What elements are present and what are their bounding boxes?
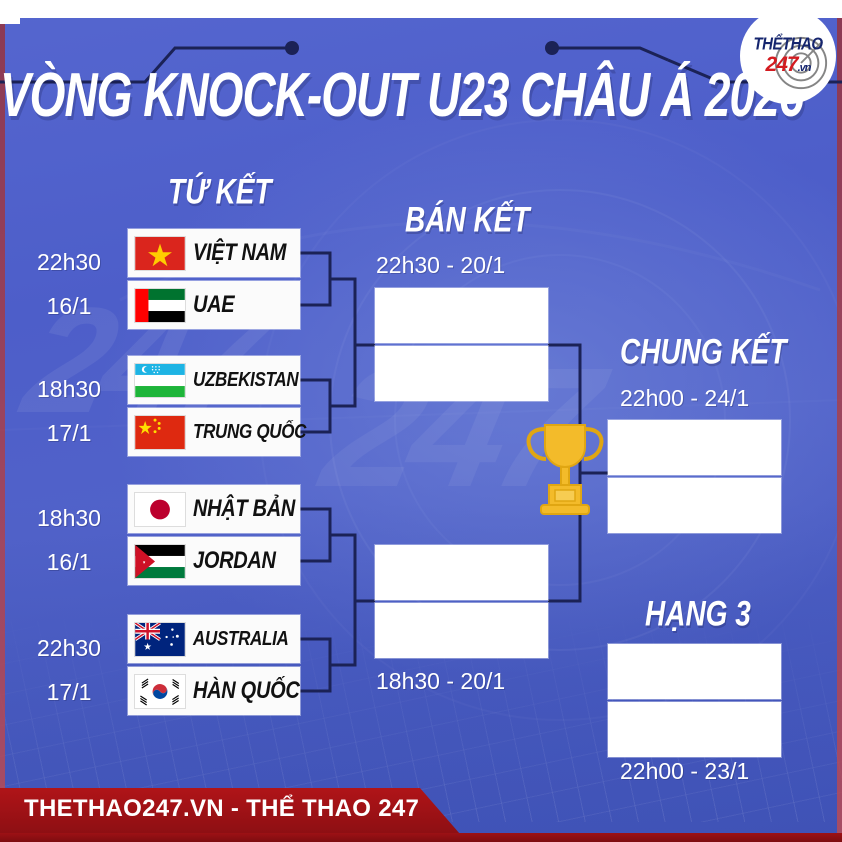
qf2-team-2-name: TRUNG QUỐC bbox=[193, 420, 306, 444]
qf3-team-2-name: JORDAN bbox=[193, 547, 276, 574]
qf3-team-2[interactable]: JORDAN bbox=[128, 537, 300, 585]
southkorea-flag bbox=[134, 674, 186, 709]
uzbekistan-flag bbox=[134, 363, 186, 398]
china-flag bbox=[134, 415, 186, 450]
qf4-team-1[interactable]: AUSTRALIA bbox=[128, 615, 300, 663]
semifinal-1-slot-2[interactable] bbox=[375, 346, 548, 401]
qf4-team-1-name: AUSTRALIA bbox=[193, 627, 289, 651]
final-time: 22h00 - 24/1 bbox=[620, 385, 749, 412]
vietnam-flag bbox=[134, 236, 186, 271]
qf1-team-2-name: UAE bbox=[193, 291, 234, 318]
semifinal-heading: BÁN KẾT bbox=[405, 200, 529, 240]
qf4-team-2[interactable]: HÀN QUỐC bbox=[128, 667, 300, 715]
final-heading: CHUNG KẾT bbox=[620, 332, 786, 372]
uae-flag bbox=[134, 288, 186, 323]
qf1-date: 16/1 bbox=[14, 293, 124, 320]
qf1-team-1-name: VIỆT NAM bbox=[193, 239, 286, 266]
qf4-date: 17/1 bbox=[14, 679, 124, 706]
qf3-team-1[interactable]: NHẬT BẢN bbox=[128, 485, 300, 533]
final-slot-2[interactable] bbox=[608, 478, 781, 533]
qf3-team-1-name: NHẬT BẢN bbox=[193, 495, 295, 522]
semifinal-2-time: 18h30 - 20/1 bbox=[376, 668, 505, 695]
semifinal-1-time: 22h30 - 20/1 bbox=[376, 252, 505, 279]
japan-flag bbox=[134, 492, 186, 527]
trophy-icon bbox=[519, 415, 611, 525]
qf2-date: 17/1 bbox=[14, 420, 124, 447]
page-title: VÒNG KNOCK-OUT U23 CHÂU Á 2026 bbox=[0, 58, 760, 131]
logo-line-2: 247.vn bbox=[766, 54, 811, 75]
qf1-team-1[interactable]: VIỆT NAM bbox=[128, 229, 300, 277]
final-slot-1[interactable] bbox=[608, 420, 781, 475]
semifinal-2-slot-1[interactable] bbox=[375, 545, 548, 600]
footer-bottom-strip bbox=[0, 833, 842, 842]
footer: THETHAO247.VN - THỂ THAO 247 bbox=[0, 780, 842, 842]
footer-text: THETHAO247.VN - THỂ THAO 247 bbox=[24, 795, 419, 823]
qf3-date: 16/1 bbox=[14, 549, 124, 576]
third-place-slot-1[interactable] bbox=[608, 644, 781, 699]
qf2-team-2[interactable]: TRUNG QUỐC bbox=[128, 408, 300, 456]
qf4-time: 22h30 bbox=[14, 635, 124, 662]
qf2-team-1-name: UZBEKISTAN bbox=[193, 368, 298, 392]
jordan-flag bbox=[134, 544, 186, 579]
qf1-team-2[interactable]: UAE bbox=[128, 281, 300, 329]
brand-logo[interactable]: THỂTHAO 247.vn bbox=[740, 8, 836, 104]
qf2-time: 18h30 bbox=[14, 376, 124, 403]
third-place-slot-2[interactable] bbox=[608, 702, 781, 757]
quarterfinal-heading: TỨ KẾT bbox=[168, 172, 272, 212]
qf1-time: 22h30 bbox=[14, 249, 124, 276]
logo-line-1: THỂTHAO bbox=[754, 36, 823, 53]
semifinal-1-slot-1[interactable] bbox=[375, 288, 548, 343]
logo-247: 247 bbox=[766, 53, 798, 76]
qf3-time: 18h30 bbox=[14, 505, 124, 532]
logo-vn-suffix: .vn bbox=[798, 62, 811, 74]
qf2-team-1[interactable]: UZBEKISTAN bbox=[128, 356, 300, 404]
qf4-team-2-name: HÀN QUỐC bbox=[193, 677, 300, 704]
infographic-root: 247 247 VÒNG KNOCK-OUT U23 CHÂU Á 2026 T… bbox=[0, 0, 842, 842]
australia-flag bbox=[134, 622, 186, 657]
third-place-heading: HẠNG 3 bbox=[645, 594, 751, 634]
semifinal-2-slot-2[interactable] bbox=[375, 603, 548, 658]
